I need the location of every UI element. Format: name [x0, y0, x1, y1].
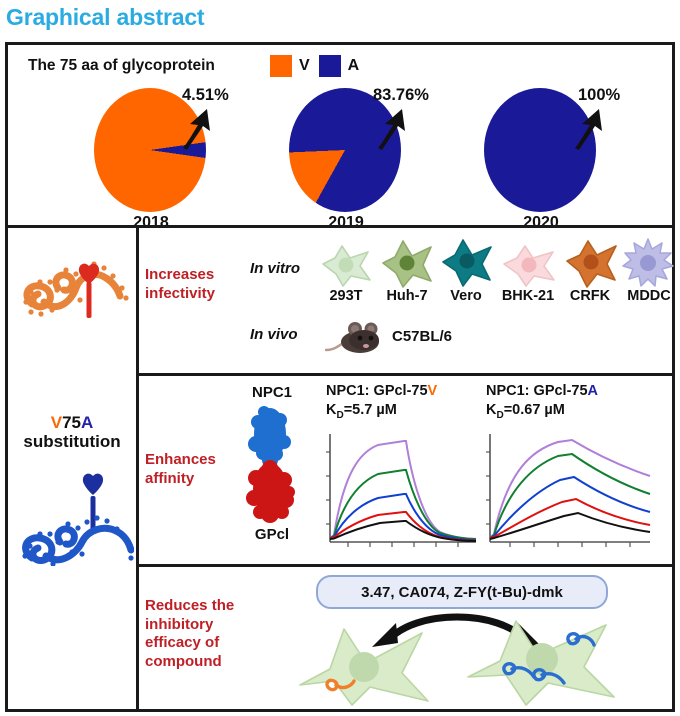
label-npc1: NPC1	[232, 384, 312, 401]
protein-structure-icon	[244, 404, 300, 524]
spr-kd-left-symbol: K	[326, 402, 336, 418]
cell-icon-infected-v	[294, 623, 434, 707]
spr-kd-right-value: =0.67 µM	[504, 402, 565, 418]
mouse-icon	[324, 316, 386, 356]
pie-percent-2019: 83.76%	[373, 86, 429, 105]
spr-title-left: NPC1: GPcl-75V KD=5.7 µM	[326, 382, 437, 425]
cell-icon-293t	[318, 242, 374, 288]
label-in-vitro: In vitro	[250, 260, 300, 277]
pie-percent-2020: 100%	[578, 86, 620, 105]
pie-group-2019: 2019 83.76%	[261, 88, 431, 218]
substitution-a: A	[81, 413, 93, 432]
substitution-number: 75	[62, 413, 81, 432]
cell-label-huh7: Huh-7	[373, 288, 441, 304]
pie-legend: V A	[270, 55, 359, 77]
legend-swatch-a	[319, 55, 341, 77]
virus-orange-icon	[14, 246, 132, 326]
pie-panel-header: The 75 aa of glycoprotein	[28, 57, 215, 75]
cell-label-293t: 293T	[312, 288, 380, 304]
cell-label-crfk: CRFK	[559, 288, 621, 304]
legend-entry-v: V	[270, 55, 310, 77]
spr-kd-left-sub: D	[336, 410, 343, 421]
legend-label-v: V	[299, 57, 310, 75]
spr-sensorgram-right	[480, 430, 652, 558]
spr-title-right: NPC1: GPcl-75A KD=0.67 µM	[486, 382, 598, 425]
spr-kd-right-sub: D	[496, 410, 503, 421]
label-enhances-affinity: Enhances affinity	[145, 451, 216, 488]
label-reduces-inhibitory-efficacy: Reduces the inhibitory efficacy of compo…	[145, 597, 234, 671]
panel-enhances-affinity: Enhances affinity NPC1	[136, 376, 672, 567]
cell-label-mddc: MDDC	[618, 288, 680, 304]
panel-reduces-inhibitory-efficacy: Reduces the inhibitory efficacy of compo…	[136, 567, 672, 709]
cell-label-vero: Vero	[434, 288, 498, 304]
graphical-abstract-frame: The 75 aa of glycoprotein V A 2018 4.51%…	[5, 42, 675, 712]
pie-arrow-2018	[176, 106, 216, 151]
left-column-virus: V75A substitution	[8, 228, 136, 709]
cell-icon-crfk	[564, 239, 620, 289]
label-gpcl: GPcl	[232, 526, 312, 543]
spr-kd-left-value: =5.7 µM	[344, 402, 397, 418]
cell-icon-bhk21	[500, 242, 558, 288]
cell-icon-huh7	[379, 239, 435, 289]
spr-title-right-prefix: NPC1: GPcl-75	[486, 383, 588, 399]
spr-sensorgram-left	[320, 430, 478, 558]
pie-group-2018: 2018 4.51%	[66, 88, 236, 218]
pie-percent-2018: 4.51%	[182, 86, 229, 105]
pie-arrow-2019	[371, 106, 411, 151]
cell-label-bhk21: BHK-21	[491, 288, 565, 304]
spr-title-right-suffix: A	[588, 383, 598, 399]
legend-label-a: A	[348, 57, 360, 75]
panel-increases-infectivity: Increases infectivity In vitro In vivo	[136, 228, 672, 376]
spr-kd-right-symbol: K	[486, 402, 496, 418]
mouse-strain-label: C57BL/6	[392, 328, 452, 345]
cell-icon-mddc	[622, 238, 674, 288]
page-title: Graphical abstract	[6, 0, 204, 34]
virus-blue-icon	[12, 466, 134, 566]
legend-entry-a: A	[319, 55, 360, 77]
pie-group-2020: 2020 100%	[456, 88, 626, 218]
right-stack: Increases infectivity In vitro In vivo	[136, 228, 672, 709]
pie-arrow-2020	[568, 106, 608, 151]
label-increases-infectivity: Increases infectivity	[145, 266, 215, 303]
compound-box: 3.47, CA074, Z-FY(t-Bu)-dmk	[316, 575, 608, 609]
substitution-label: V75A substitution	[8, 413, 136, 451]
substitution-v: V	[51, 413, 62, 432]
cell-icon-vero	[440, 238, 494, 288]
cell-icon-infected-a	[462, 617, 622, 707]
compound-list-text: 3.47, CA074, Z-FY(t-Bu)-dmk	[361, 584, 563, 601]
legend-swatch-v	[270, 55, 292, 77]
label-in-vivo: In vivo	[250, 326, 298, 343]
spr-title-left-suffix: V	[428, 383, 438, 399]
panel-glycoprotein-pies: The 75 aa of glycoprotein V A 2018 4.51%…	[8, 45, 672, 225]
substitution-word: substitution	[23, 432, 120, 451]
spr-title-left-prefix: NPC1: GPcl-75	[326, 383, 428, 399]
